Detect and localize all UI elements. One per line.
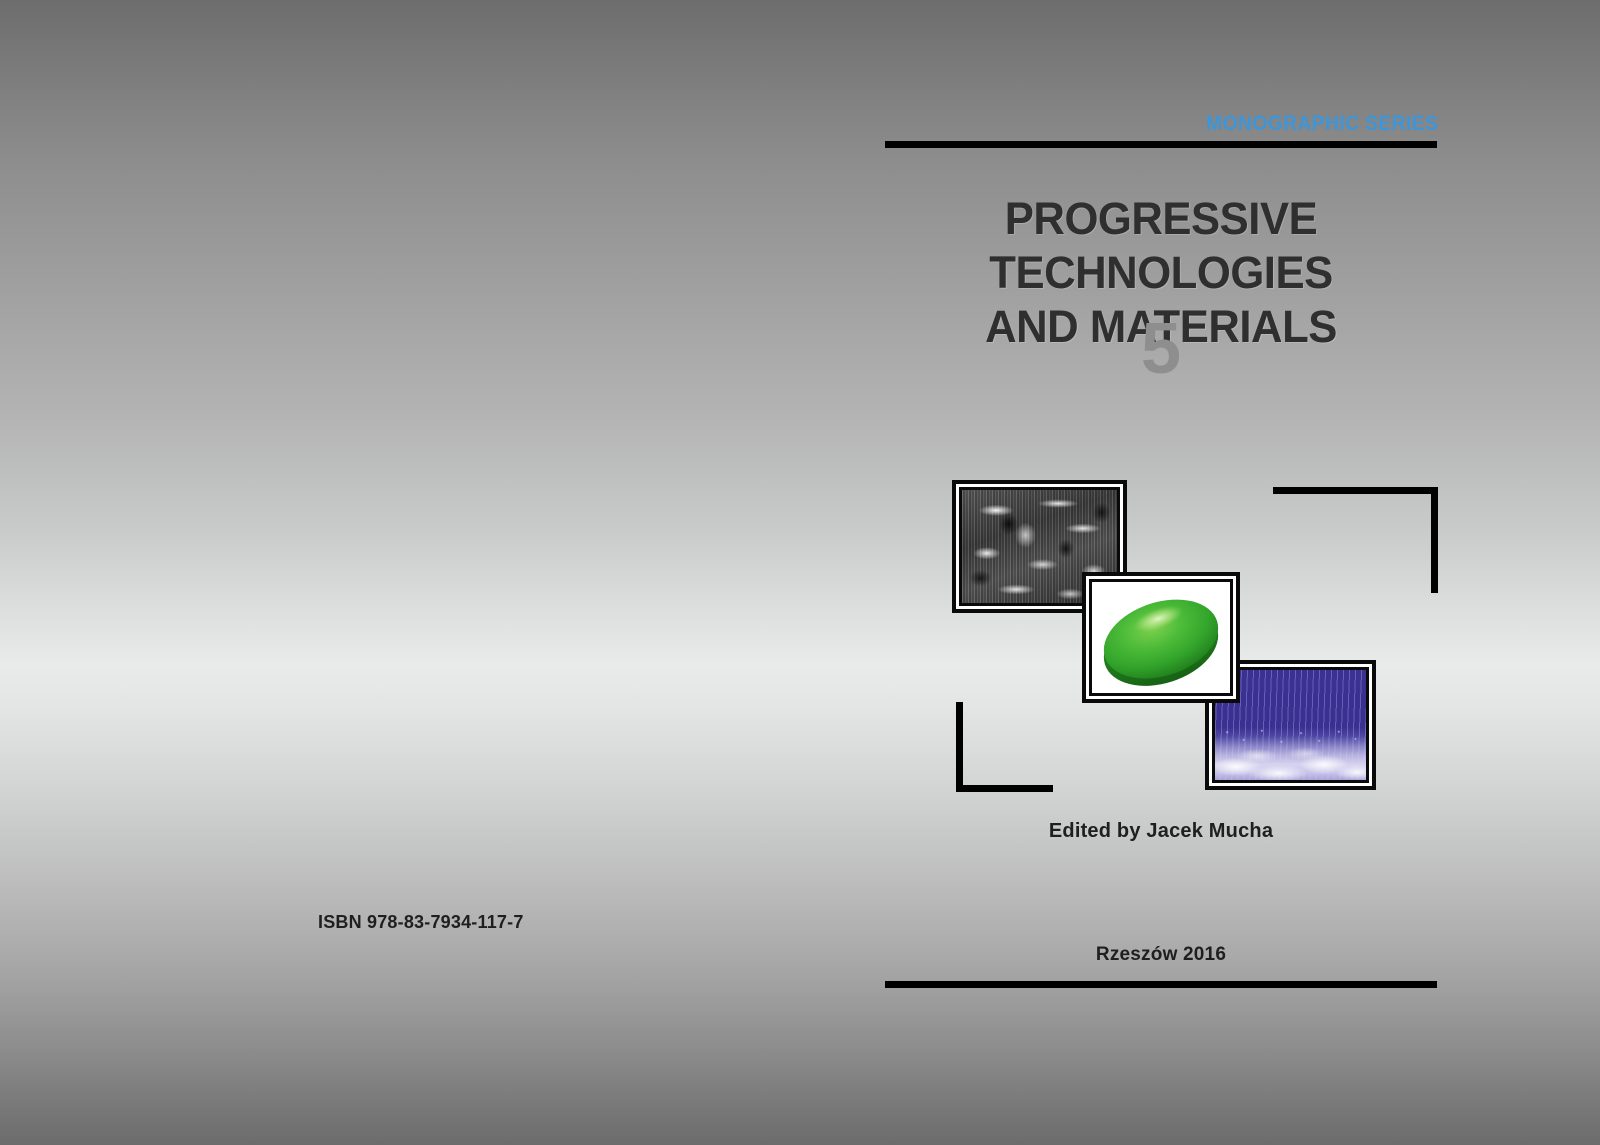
- cover-image-collage: [884, 462, 1438, 810]
- green-ellipsoid-image: [1092, 582, 1230, 693]
- bracket-top-right-icon: [1273, 487, 1438, 593]
- violet-speckle-band: [1215, 725, 1366, 749]
- green-ellipsoid-frame: [1082, 572, 1240, 703]
- place-and-year: Rzeszów 2016: [884, 944, 1438, 966]
- footer-rule: [885, 981, 1437, 988]
- volume-number: 5: [884, 312, 1438, 386]
- book-cover: ISBN 978-83-7934-117-7 MONOGRAPHIC SERIE…: [0, 0, 1600, 1145]
- title-line-1: PROGRESSIVE TECHNOLOGIES: [892, 192, 1429, 300]
- header-rule: [885, 141, 1437, 148]
- bracket-bottom-left-icon: [956, 702, 1053, 792]
- monographic-series-label: MONOGRAPHIC SERIES: [1206, 112, 1438, 136]
- front-cover-panel: MONOGRAPHIC SERIES PROGRESSIVE TECHNOLOG…: [884, 0, 1438, 1145]
- green-ellipsoid-svg: [1092, 582, 1230, 696]
- editor-credit: Edited by Jacek Mucha: [884, 820, 1438, 843]
- green-ellipsoid-inner: [1089, 579, 1233, 696]
- isbn-text: ISBN 978-83-7934-117-7: [318, 912, 524, 933]
